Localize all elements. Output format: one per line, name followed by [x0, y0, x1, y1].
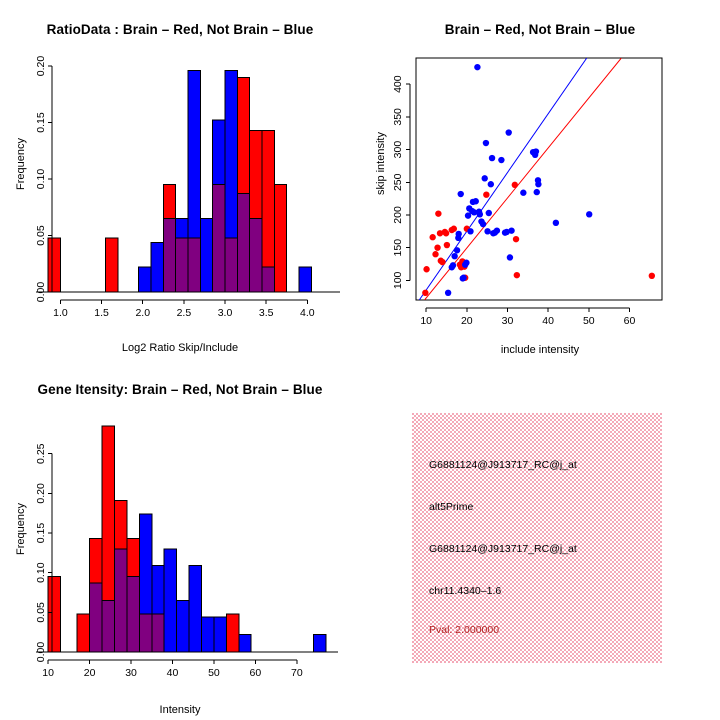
- scatter-point-notbrain-blue: [473, 198, 479, 204]
- panel-intensity-scatter: Brain – Red, Not Brain – Blue skip inten…: [360, 0, 720, 360]
- scatter-yaxis: 100150200250300350400: [392, 75, 410, 289]
- scatter-point-notbrain-blue: [553, 220, 559, 226]
- scatter-point-notbrain-blue: [445, 290, 451, 296]
- histogram-bar-notbrain-blue: [214, 617, 226, 652]
- histogram-bar-overlap-purple: [127, 577, 139, 652]
- scatter-point-brain-red: [514, 272, 520, 278]
- histogram-bar-notbrain-blue: [313, 635, 325, 652]
- histogram-bar-overlap-purple: [90, 583, 102, 652]
- scatter-point-notbrain-blue: [455, 231, 461, 237]
- panel-gene-info: G6881124@J913717_RC@j_at alt5Prime G6881…: [412, 413, 662, 663]
- histogram-bar-overlap-purple: [188, 238, 200, 292]
- scatter-point-notbrain-blue: [484, 228, 490, 234]
- histogram-bar-overlap-purple: [163, 219, 175, 292]
- y-tick-label: 0.15: [35, 523, 47, 544]
- scatter-plot-area: 100150200250300350400102030405060: [360, 0, 720, 360]
- y-tick-label: 250: [392, 173, 404, 191]
- scatter-point-notbrain-blue: [533, 148, 539, 154]
- figure-canvas: RatioData : Brain – Red, Not Brain – Blu…: [0, 0, 720, 720]
- scatter-point-brain-red: [432, 251, 438, 257]
- svg-ratio-xaxis: 1.01.52.02.53.03.54.0: [53, 300, 315, 319]
- x-tick-label: 30: [125, 667, 137, 679]
- y-tick-label: 0.05: [35, 602, 47, 623]
- scatter-point-brain-red: [439, 259, 445, 265]
- histogram-bar-notbrain-blue: [200, 219, 212, 292]
- histogram-bar-brain-red: [48, 238, 60, 292]
- x-tick-label: 20: [84, 667, 96, 679]
- svg-gene-bars: [48, 426, 326, 652]
- y-tick-label: 0.15: [35, 112, 47, 133]
- histogram-bar-overlap-purple: [176, 238, 188, 292]
- ratio-hist-plot-area: 0.000.050.100.150.201.01.52.02.53.03.54.…: [0, 0, 360, 360]
- scatter-point-notbrain-blue: [489, 155, 495, 161]
- y-tick-label: 350: [392, 108, 404, 126]
- x-tick-label: 2.0: [135, 307, 150, 319]
- x-tick-label: 3.0: [218, 307, 233, 319]
- histogram-bar-notbrain-blue: [299, 267, 311, 292]
- scatter-point-notbrain-blue: [460, 275, 466, 281]
- scatter-point-notbrain-blue: [506, 129, 512, 135]
- histogram-bar-brain-red: [48, 577, 60, 652]
- histogram-bar-overlap-purple: [152, 614, 164, 652]
- y-tick-label: 0.20: [35, 56, 47, 77]
- scatter-point-notbrain-blue: [486, 210, 492, 216]
- scatter-point-notbrain-blue: [494, 227, 500, 233]
- info-line-probeset-id: G6881124@J913717_RC@j_at: [429, 459, 577, 471]
- x-tick-label: 4.0: [300, 307, 315, 319]
- histogram-bar-overlap-purple: [139, 614, 151, 652]
- scatter-xaxis: 102030405060: [420, 308, 635, 327]
- info-line-pval: Pval: 2.000000: [429, 624, 499, 636]
- scatter-point-notbrain-blue: [451, 253, 457, 259]
- info-line-probeset-id-2: G6881124@J913717_RC@j_at: [429, 543, 577, 555]
- svg-gene-xaxis: 10203040506070: [42, 660, 303, 679]
- panel-gene-intensity-histogram: Gene Itensity: Brain – Red, Not Brain – …: [0, 360, 360, 720]
- histogram-bar-overlap-purple: [114, 549, 126, 652]
- svg-ratio-bars: [48, 71, 311, 292]
- scatter-point-brain-red: [444, 242, 450, 248]
- x-tick-label: 50: [583, 315, 595, 327]
- scatter-point-brain-red: [422, 290, 428, 296]
- scatter-point-notbrain-blue: [488, 181, 494, 187]
- x-tick-label: 20: [461, 315, 473, 327]
- x-tick-label: 3.5: [259, 307, 274, 319]
- y-tick-label: 200: [392, 206, 404, 224]
- scatter-point-notbrain-blue: [535, 181, 541, 187]
- scatter-point-brain-red: [423, 266, 429, 272]
- scatter-point-notbrain-blue: [463, 260, 469, 266]
- x-tick-label: 50: [208, 667, 220, 679]
- scatter-point-brain-red: [483, 191, 489, 197]
- y-tick-label: 0.05: [35, 225, 47, 246]
- info-line-chromosome: chr11.4340–1.6: [429, 585, 501, 597]
- x-tick-label: 60: [624, 315, 636, 327]
- histogram-bar-brain-red: [77, 614, 89, 652]
- x-tick-label: 40: [167, 667, 179, 679]
- x-tick-label: 2.5: [177, 307, 192, 319]
- histogram-bar-brain-red: [226, 614, 238, 652]
- histogram-bar-notbrain-blue: [202, 617, 214, 652]
- scatter-point-notbrain-blue: [483, 140, 489, 146]
- scatter-point-notbrain-blue: [450, 262, 456, 268]
- x-tick-label: 10: [42, 667, 54, 679]
- histogram-bar-notbrain-blue: [239, 635, 251, 652]
- scatter-point-brain-red: [435, 210, 441, 216]
- scatter-point-brain-red: [443, 230, 449, 236]
- scatter-point-notbrain-blue: [458, 191, 464, 197]
- y-tick-label: 100: [392, 271, 404, 289]
- scatter-point-brain-red: [649, 273, 655, 279]
- histogram-bar-overlap-purple: [262, 267, 274, 292]
- y-tick-label: 400: [392, 75, 404, 93]
- histogram-bar-overlap-purple: [102, 600, 114, 652]
- scatter-point-notbrain-blue: [454, 247, 460, 253]
- y-tick-label: 150: [392, 239, 404, 257]
- histogram-bar-brain-red: [274, 185, 286, 292]
- y-tick-label: 0.20: [35, 483, 47, 504]
- histogram-bar-notbrain-blue: [151, 242, 163, 292]
- histogram-bar-notbrain-blue: [177, 600, 189, 652]
- scatter-point-notbrain-blue: [480, 221, 486, 227]
- histogram-bar-overlap-purple: [237, 194, 249, 292]
- gene-hist-plot-area: 0.000.050.100.150.200.2510203040506070: [0, 360, 360, 720]
- scatter-points: [422, 64, 655, 296]
- y-tick-label: 300: [392, 141, 404, 159]
- scatter-point-brain-red: [451, 226, 457, 232]
- scatter-point-brain-red: [512, 182, 518, 188]
- histogram-bar-overlap-purple: [225, 238, 237, 292]
- histogram-bar-brain-red: [106, 238, 118, 292]
- histogram-bar-overlap-purple: [213, 185, 225, 292]
- scatter-point-notbrain-blue: [467, 228, 473, 234]
- scatter-point-notbrain-blue: [474, 64, 480, 70]
- scatter-point-brain-red: [429, 234, 435, 240]
- histogram-bar-notbrain-blue: [189, 566, 201, 652]
- scatter-point-notbrain-blue: [508, 227, 514, 233]
- scatter-point-brain-red: [513, 236, 519, 242]
- scatter-point-notbrain-blue: [482, 175, 488, 181]
- histogram-bar-notbrain-blue: [139, 267, 151, 292]
- y-tick-label: 0.10: [35, 562, 47, 583]
- histogram-bar-notbrain-blue: [164, 549, 176, 652]
- panel-ratio-histogram: RatioData : Brain – Red, Not Brain – Blu…: [0, 0, 360, 360]
- info-line-splice-type: alt5Prime: [429, 501, 473, 513]
- scatter-fit-lines: [419, 58, 621, 300]
- x-tick-label: 10: [420, 315, 432, 327]
- scatter-point-notbrain-blue: [477, 211, 483, 217]
- y-tick-label: 0.25: [35, 443, 47, 464]
- x-tick-label: 70: [291, 667, 303, 679]
- scatter-point-notbrain-blue: [534, 189, 540, 195]
- x-tick-label: 40: [542, 315, 554, 327]
- scatter-point-notbrain-blue: [507, 254, 513, 260]
- scatter-point-brain-red: [434, 244, 440, 250]
- y-tick-label: 0.10: [35, 169, 47, 190]
- scatter-point-notbrain-blue: [498, 157, 504, 163]
- x-tick-label: 60: [250, 667, 262, 679]
- x-tick-label: 1.5: [94, 307, 109, 319]
- histogram-bar-overlap-purple: [250, 219, 262, 292]
- x-tick-label: 1.0: [53, 307, 68, 319]
- scatter-point-notbrain-blue: [520, 190, 526, 196]
- x-tick-label: 30: [502, 315, 514, 327]
- scatter-point-notbrain-blue: [586, 211, 592, 217]
